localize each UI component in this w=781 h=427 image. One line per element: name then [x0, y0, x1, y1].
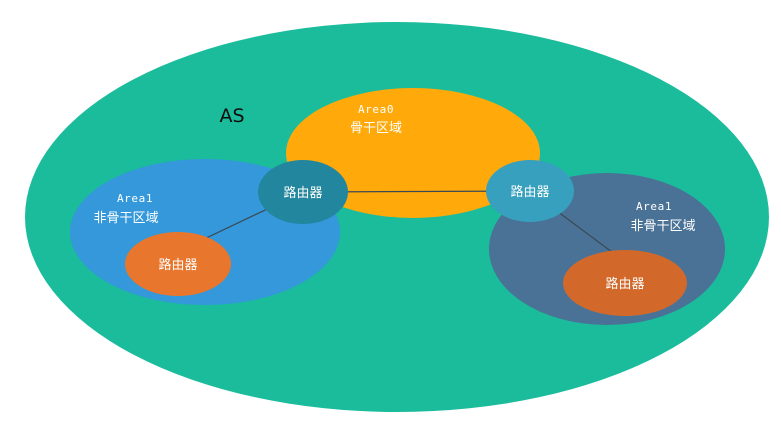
router-abr-right-label: 路由器 — [510, 184, 549, 200]
router-internal-right-label: 路由器 — [605, 276, 644, 292]
diagram-canvas: AS Area0 骨干区域 Area1 非骨干区域 Area1 非骨干区域 路由… — [0, 0, 781, 427]
area1-right-name-label: 非骨干区域 — [630, 219, 695, 234]
router-internal-left-label: 路由器 — [158, 257, 197, 273]
area0-name-label: 骨干区域 — [350, 121, 402, 136]
area1-left-name-label: 非骨干区域 — [93, 211, 158, 226]
area1-right-code-label: Area1 — [636, 200, 672, 213]
area0-code-label: Area0 — [358, 103, 394, 116]
as-title-label: AS — [219, 105, 244, 127]
area1-left-code-label: Area1 — [117, 192, 153, 205]
ospf-area-diagram: AS Area0 骨干区域 Area1 非骨干区域 Area1 非骨干区域 路由… — [0, 0, 781, 427]
router-abr-left-label: 路由器 — [283, 185, 322, 201]
